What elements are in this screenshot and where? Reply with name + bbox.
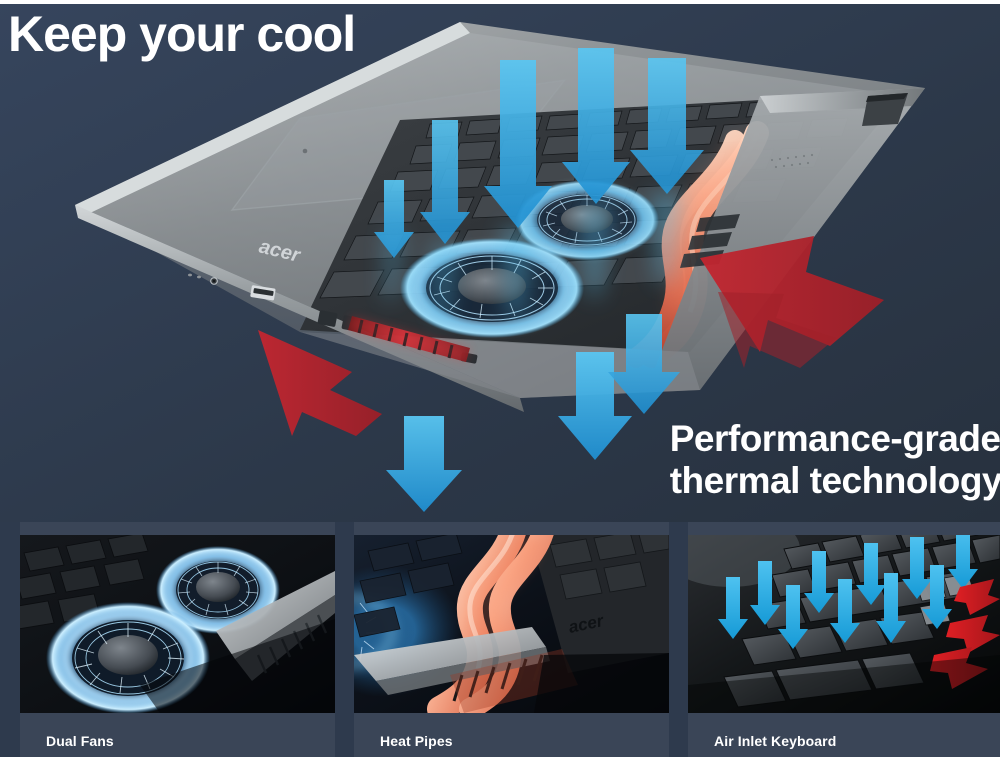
top-white-margin <box>0 0 1000 4</box>
hero-subheadline: Performance-grade thermal technology <box>670 418 1000 502</box>
hero-headline: Keep your cool <box>8 6 355 62</box>
feature-card-caption: Air Inlet Keyboard <box>714 733 836 749</box>
feature-card-dual-fans[interactable]: Dual Fans <box>20 522 335 763</box>
feature-card-caption: Dual Fans <box>46 733 114 749</box>
hero-subheadline-line-1: Performance-grade <box>670 418 1000 460</box>
hero-subheadline-line-2: thermal technology <box>670 460 1000 502</box>
product-feature-banner: acer <box>0 0 1000 763</box>
feature-card-air-inlet-keyboard[interactable]: Air Inlet Keyboard <box>688 522 1000 763</box>
air-inlet-keyboard-photo <box>688 535 1000 713</box>
feature-card-caption: Heat Pipes <box>380 733 453 749</box>
feature-thumbnail-row: Dual Fans <box>0 522 1000 763</box>
dual-fans-photo <box>20 535 335 713</box>
bottom-white-margin <box>0 757 1000 763</box>
hero-section: acer <box>0 0 1000 522</box>
feature-card-heat-pipes[interactable]: acer <box>354 522 669 763</box>
heat-pipes-photo: acer <box>354 535 669 713</box>
